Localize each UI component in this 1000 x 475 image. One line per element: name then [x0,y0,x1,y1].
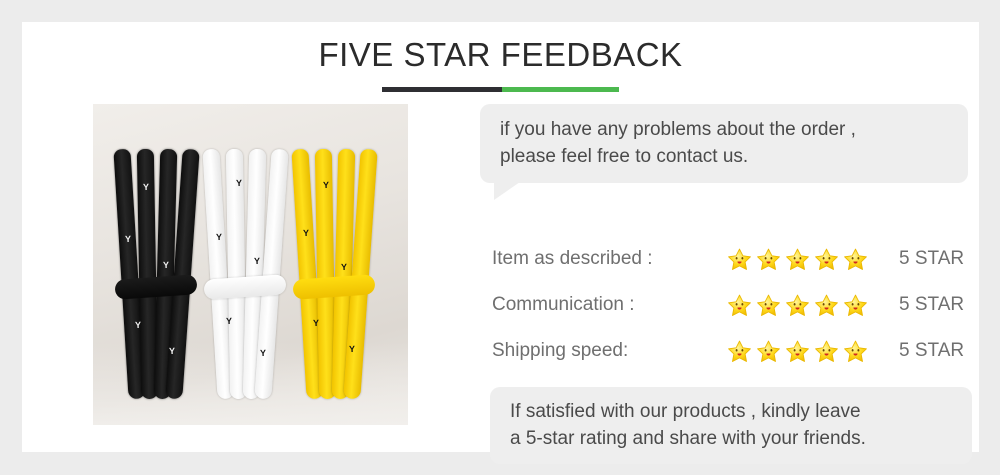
star-icon [843,247,868,272]
star-icon [756,247,781,272]
star-icon [843,339,868,364]
title-underline-dark-segment [382,87,502,92]
rating-label: Item as described : [492,248,727,270]
star-icon [727,339,752,364]
rating-value: 5 STAR [887,248,964,270]
shoelace-bundle-white: Y Y Y Y Y [208,149,282,399]
rating-row: Communication : 5 STAR [492,285,972,325]
product-photo: Y Y Y Y Y Y Y Y Y Y [93,104,408,425]
star-rating-communication [727,293,887,318]
shoelace-bundle-yellow: Y Y Y Y Y [297,149,371,399]
star-icon [843,293,868,318]
shoelace-bundle-black: Y Y Y Y Y [119,149,193,399]
page-title: FIVE STAR FEEDBACK [22,35,979,75]
ratings-list: Item as described : 5 STAR Communication… [492,239,972,377]
rating-label: Communication : [492,294,727,316]
star-icon [785,293,810,318]
title-underline [382,87,619,92]
star-icon [814,293,839,318]
star-icon [756,339,781,364]
page-frame: FIVE STAR FEEDBACK Y Y Y Y Y [0,0,1000,475]
star-icon [727,247,752,272]
star-rating-item-as-described [727,247,887,272]
closing-bubble-line-2: a 5-star rating and share with your frie… [510,425,952,452]
contact-bubble-line-2: please feel free to contact us. [500,143,948,170]
rating-label: Shipping speed: [492,340,727,362]
title-underline-green-segment [502,87,619,92]
closing-message-bubble: If satisfied with our products , kindly … [490,387,972,464]
feedback-content: if you have any problems about the order… [456,104,972,425]
star-icon [785,339,810,364]
rating-value: 5 STAR [887,340,964,362]
star-icon [756,293,781,318]
star-icon [814,247,839,272]
star-icon [727,293,752,318]
contact-bubble-line-1: if you have any problems about the order… [500,116,948,143]
rating-value: 5 STAR [887,294,964,316]
feedback-card: FIVE STAR FEEDBACK Y Y Y Y Y [22,22,979,452]
rating-row: Shipping speed: 5 STAR [492,331,972,371]
contact-speech-bubble: if you have any problems about the order… [480,104,968,183]
speech-bubble-tail-icon [494,182,520,200]
star-icon [785,247,810,272]
closing-bubble-line-1: If satisfied with our products , kindly … [510,398,952,425]
title-block: FIVE STAR FEEDBACK [22,35,979,92]
rating-row: Item as described : 5 STAR [492,239,972,279]
star-icon [814,339,839,364]
star-rating-shipping-speed [727,339,887,364]
